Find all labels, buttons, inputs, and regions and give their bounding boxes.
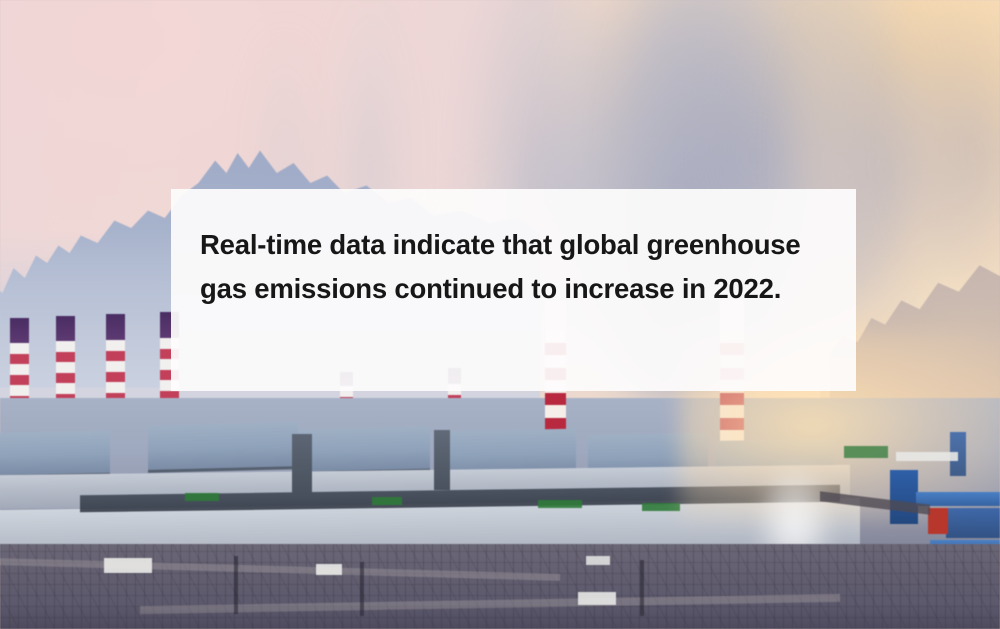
red-equipment-box <box>928 508 948 534</box>
white-truck-foreground <box>316 564 342 575</box>
smokestack-cap <box>10 318 29 343</box>
boiler-house-2 <box>148 422 298 473</box>
screenshot-root: Real-time data indicate that global gree… <box>0 0 1000 629</box>
smokestack-cap <box>56 316 75 341</box>
coal-car-4 <box>642 503 680 511</box>
boiler-house-3 <box>300 427 430 475</box>
green-structure-right <box>844 446 888 458</box>
white-car-midground <box>586 556 610 565</box>
coal-car-2 <box>372 497 402 505</box>
caption-card: Real-time data indicate that global gree… <box>171 189 856 391</box>
stair-tower-2 <box>434 430 450 490</box>
storage-shed-right <box>896 452 958 461</box>
smokestack-cap <box>106 314 125 340</box>
caption-text: Real-time data indicate that global gree… <box>200 223 830 311</box>
steel-structure-4 <box>946 508 1000 538</box>
boiler-house-1 <box>0 431 110 479</box>
stair-tower-1 <box>292 434 312 498</box>
coal-car-3 <box>538 500 582 508</box>
ground-shadow <box>0 604 1000 629</box>
steel-structure-1 <box>890 470 918 524</box>
white-building-foreground <box>104 558 152 573</box>
coal-car-1 <box>185 493 219 501</box>
